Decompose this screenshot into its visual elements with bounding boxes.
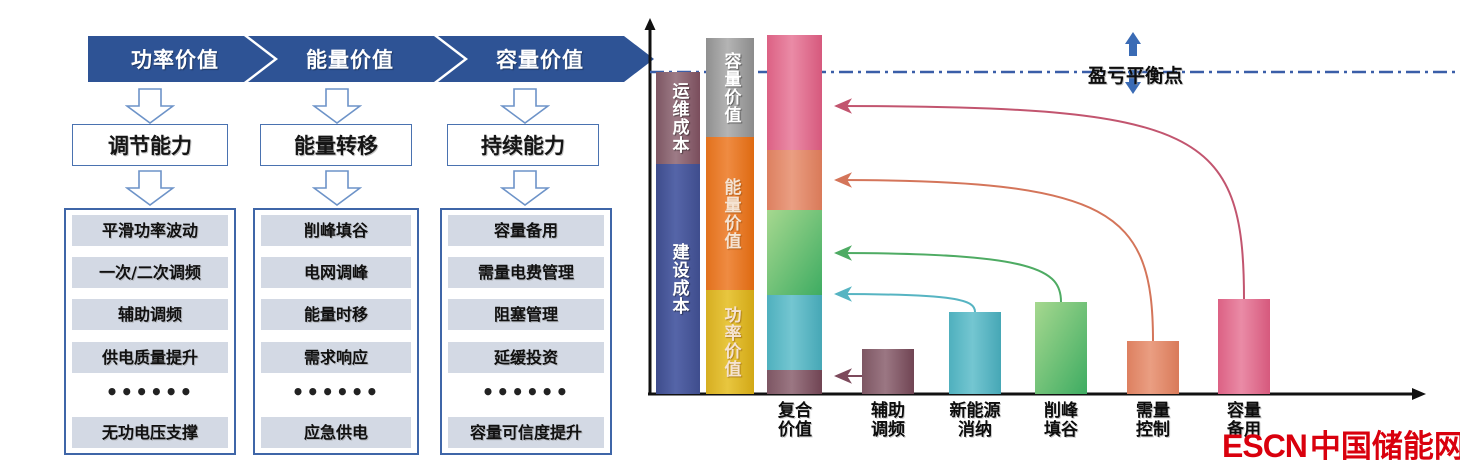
cost-segment-label-ops: 运维成本 xyxy=(656,72,700,164)
chevron-stage-3-label: 容量价值 xyxy=(496,44,584,74)
connector-rongliang-beiyong xyxy=(836,106,1244,299)
list-item[interactable]: 容量可信度提升 xyxy=(448,417,604,448)
capability-box-3[interactable]: 持续能力 xyxy=(447,124,599,166)
chevron-down-icon-1a xyxy=(125,88,175,124)
watermark-cn-text: 中国储能网 xyxy=(1310,421,1460,466)
list-item-ellipsis: •••••• xyxy=(448,384,604,406)
chevron-stage-2[interactable]: 能量价值 xyxy=(248,36,464,82)
xtick-label-line2: 消纳 xyxy=(933,421,1017,440)
list-item[interactable]: 能量时移 xyxy=(261,299,411,330)
composite-stack-bar xyxy=(767,35,822,394)
application-list-2: 削峰填谷 电网调峰 能量时移 需求响应 •••••• 应急供电 xyxy=(253,208,419,455)
list-item[interactable]: 一次/二次调频 xyxy=(72,257,228,288)
capability-box-2[interactable]: 能量转移 xyxy=(260,124,412,166)
xtick-label-2: 新能源 消纳 xyxy=(933,402,1017,440)
chevron-down-icon-2b xyxy=(312,170,362,206)
bar-xiaofeng-tiangu xyxy=(1035,302,1087,394)
watermark-en-text: ESCN xyxy=(1222,428,1307,465)
bar-xinnengyuan-xiaona xyxy=(949,312,1001,394)
break-even-label: 盈亏平衡点 xyxy=(1088,61,1183,88)
chevron-stage-1[interactable]: 功率价值 xyxy=(88,36,274,82)
value-segment-label-power: 功率价值 xyxy=(706,290,754,394)
list-item[interactable]: 削峰填谷 xyxy=(261,215,411,246)
list-item[interactable]: 延缓投资 xyxy=(448,342,604,373)
escn-watermark-logo: ESCN 中国储能网 xyxy=(1222,421,1460,466)
chevron-down-icon-1b xyxy=(125,170,175,206)
list-item[interactable]: 容量备用 xyxy=(448,215,604,246)
xtick-label-0: 复合 价值 xyxy=(753,402,837,440)
arrow-up-icon xyxy=(1125,32,1141,56)
list-item[interactable]: 无功电压支撑 xyxy=(72,417,228,448)
list-item[interactable]: 应急供电 xyxy=(261,417,411,448)
capability-box-1-label: 调节能力 xyxy=(108,130,192,160)
chevron-down-icon-3a xyxy=(500,88,550,124)
xtick-label-line2: 价值 xyxy=(753,421,837,440)
chart-canvas xyxy=(640,0,1460,469)
bar-fupin-tiaopin xyxy=(862,349,914,394)
application-list-1: 平滑功率波动 一次/二次调频 辅助调频 供电质量提升 •••••• 无功电压支撑 xyxy=(64,208,236,455)
bar-xuliang-kongzhi xyxy=(1127,341,1179,394)
connector-xinnengyuan-xiaona xyxy=(836,294,975,312)
value-stack-chart: 运维成本 建设成本 容量价值 能量价值 功率价值 盈亏平衡点 复合 价值 辅助 … xyxy=(640,0,1460,469)
chevron-stage-2-label: 能量价值 xyxy=(306,44,394,74)
list-item[interactable]: 平滑功率波动 xyxy=(72,215,228,246)
xtick-label-1: 辅助 调频 xyxy=(846,402,930,440)
value-segment-label-capacity: 容量价值 xyxy=(706,38,754,137)
application-list-3: 容量备用 需量电费管理 阻塞管理 延缓投资 •••••• 容量可信度提升 xyxy=(440,208,612,455)
list-item[interactable]: 供电质量提升 xyxy=(72,342,228,373)
chevron-stage-row: 功率价值 能量价值 容量价值 xyxy=(88,36,608,82)
xtick-label-3: 削峰 填谷 xyxy=(1019,402,1103,440)
list-item[interactable]: 需求响应 xyxy=(261,342,411,373)
list-item-ellipsis: •••••• xyxy=(261,384,411,406)
value-segment-label-energy: 能量价值 xyxy=(706,137,754,290)
list-item[interactable]: 辅助调频 xyxy=(72,299,228,330)
list-item-ellipsis: •••••• xyxy=(72,384,228,406)
xtick-label-line2: 控制 xyxy=(1111,421,1195,440)
slide-root: 功率价值 能量价值 容量价值 调节能力 能量转移 持续能力 xyxy=(0,0,1460,469)
chevron-down-icon-2a xyxy=(312,88,362,124)
chevron-stage-3[interactable]: 容量价值 xyxy=(438,36,654,82)
individual-bars xyxy=(862,299,1270,394)
bar-rongliang-beiyong xyxy=(1218,299,1270,394)
capability-box-2-label: 能量转移 xyxy=(294,130,378,160)
cost-segment-label-build: 建设成本 xyxy=(656,164,700,394)
xtick-label-line2: 填谷 xyxy=(1019,421,1103,440)
capability-box-3-label: 持续能力 xyxy=(481,130,565,160)
xtick-label-line2: 调频 xyxy=(846,421,930,440)
value-flow-diagram: 功率价值 能量价值 容量价值 调节能力 能量转移 持续能力 xyxy=(0,0,640,469)
chevron-down-icon-3b xyxy=(500,170,550,206)
list-item[interactable]: 阻塞管理 xyxy=(448,299,604,330)
chevron-stage-1-label: 功率价值 xyxy=(131,44,219,74)
list-item[interactable]: 电网调峰 xyxy=(261,257,411,288)
list-item[interactable]: 需量电费管理 xyxy=(448,257,604,288)
xtick-label-4: 需量 控制 xyxy=(1111,402,1195,440)
capability-box-1[interactable]: 调节能力 xyxy=(72,124,228,166)
